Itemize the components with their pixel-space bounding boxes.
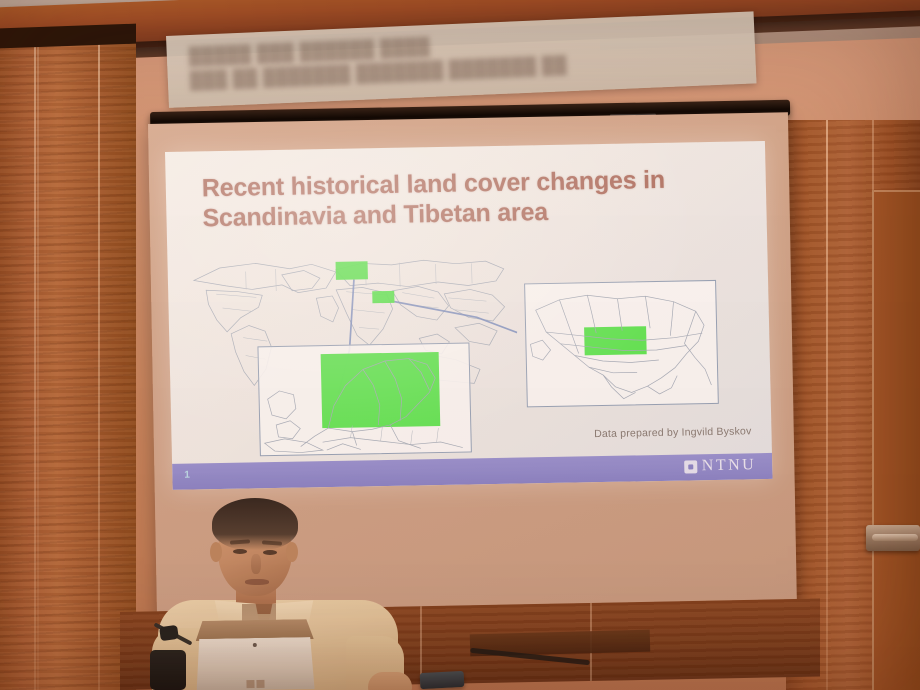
equipment-box [150,650,186,690]
panel-seam [37,40,39,690]
tibet-inset [524,280,719,407]
presenter-ear-left [210,542,222,562]
presenter-nose [251,554,261,574]
scandinavia-inset [257,342,471,456]
laptop[interactable] [195,619,314,690]
door[interactable] [872,190,920,690]
conference-room-photo: █████ ███ ██████ ████ ███ ██ ███████ ███… [0,0,920,690]
ntnu-logo: NTNU [684,456,757,475]
slide-title: Recent historical land cover changes in … [201,164,722,234]
wood-panel-left [0,40,136,690]
smartphone[interactable] [420,671,465,689]
slide-number: 1 [184,470,190,481]
presenter-eye-right [263,550,277,555]
wood-grain [0,40,136,690]
presenter-hair [212,498,298,550]
slide-credit: Data prepared by Ingvild Byskov [594,425,752,440]
microphone[interactable] [159,625,179,641]
laptop-camera [253,643,257,647]
microsoft-surface-logo-icon [246,680,264,690]
panel-seam [826,120,828,690]
presenter-ear-right [286,542,298,562]
projected-slide: Recent historical land cover changes in … [165,141,773,490]
panel-seam [34,40,36,690]
panel-seam [98,40,100,690]
ntnu-mark-icon [684,460,697,473]
presenter-eye-left [233,549,247,554]
ntnu-wordmark: NTNU [702,456,757,475]
door-handle[interactable] [866,525,920,551]
laptop-back-cover [196,637,315,690]
presenter-hand [368,672,412,690]
presenter-mouth [245,579,269,585]
